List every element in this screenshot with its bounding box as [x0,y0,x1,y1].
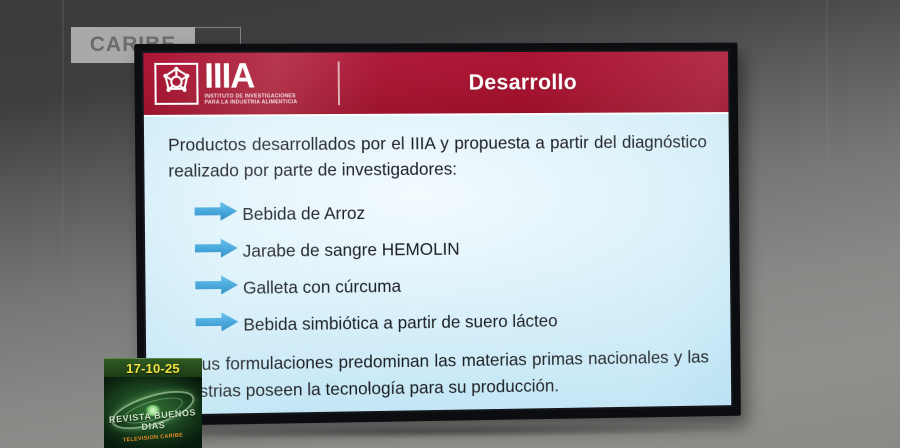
org-acronym: IIIA [204,59,297,93]
broadcast-frame: CARIBE [0,0,900,448]
org-logo: IIIA INSTITUTO DE INVESTIGACIONES PARA L… [143,52,338,114]
date-badge: 17-10-25 [104,358,202,377]
screen-bezel: IIIA INSTITUTO DE INVESTIGACIONES PARA L… [141,50,733,417]
wall-seam-right [826,0,828,448]
list-item: Jarabe de sangre HEMOLIN [195,228,709,270]
arrow-right-icon [195,238,239,263]
header-divider [338,61,340,105]
date-badge-label: 17-10-25 [126,361,180,376]
wall-seam-left [62,0,64,448]
org-logo-wordmark: IIIA INSTITUTO DE INVESTIGACIONES PARA L… [204,59,297,106]
slide-title: Desarrollo [468,70,577,96]
arrow-right-icon [196,312,240,337]
arrow-right-icon [195,275,239,300]
list-item-label: Jarabe de sangre HEMOLIN [243,237,460,261]
list-item-label: Galleta con cúrcuma [243,275,401,299]
slide-title-container: Desarrollo [339,51,728,113]
presentation-screen: IIIA INSTITUTO DE INVESTIGACIONES PARA L… [134,43,741,426]
outro-paragraph: En sus formulaciones predominan las mate… [166,344,709,406]
list-item-label: Bebida simbiótica a partir de suero láct… [243,309,557,335]
list-item: Bebida simbiótica a partir de suero láct… [196,300,710,343]
program-logo: REVISTA BUENOS DIAS TELEVISION CARIBE [104,377,202,448]
intro-paragraph: Productos desarrollados por el IIIA y pr… [168,129,707,184]
product-list: Bebida de Arroz Jarabe de sangre HEMOLIN [169,191,710,343]
iiia-star-logo-icon [154,63,198,105]
slide-body: Productos desarrollados por el IIIA y pr… [144,114,731,406]
arrow-right-icon [195,201,239,226]
lower-third-overlay: 17-10-25 REVISTA BUENOS DIAS TELEVISION … [104,358,202,448]
slide: IIIA INSTITUTO DE INVESTIGACIONES PARA L… [143,51,731,414]
org-name-line-2: PARA LA INDUSTRIA ALIMENTICIA [204,99,297,106]
list-item-label: Bebida de Arroz [242,202,365,225]
slide-header: IIIA INSTITUTO DE INVESTIGACIONES PARA L… [143,51,728,116]
list-item: Bebida de Arroz [194,191,708,232]
